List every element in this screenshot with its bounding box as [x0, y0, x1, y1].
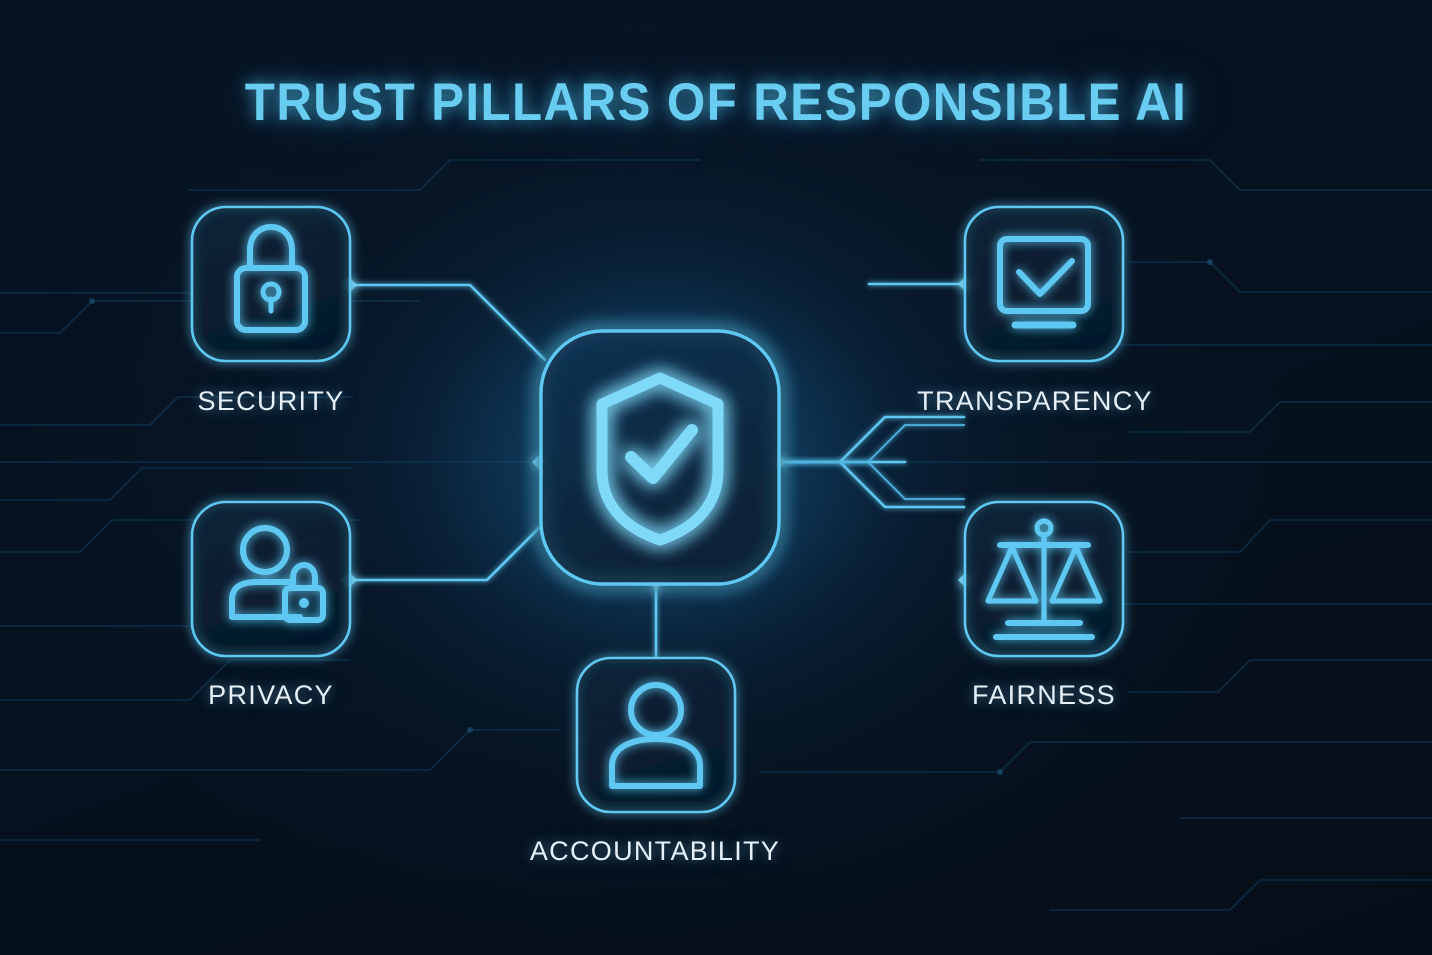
center-node-shield[interactable] [541, 331, 779, 584]
pillar-node-accountability[interactable] [577, 658, 735, 812]
pillar-label-accountability: ACCOUNTABILITY [505, 836, 805, 867]
trust-pillars-diagram [0, 0, 1432, 955]
infographic-canvas: TRUST PILLARS OF RESPONSIBLE AI SECURITY… [0, 0, 1432, 955]
pillar-label-privacy: PRIVACY [192, 680, 350, 711]
transparency-node-box[interactable] [965, 207, 1123, 361]
pillar-label-transparency: TRANSPARENCY [885, 386, 1185, 417]
pillar-node-fairness[interactable] [965, 502, 1123, 656]
center-node-box[interactable] [541, 331, 779, 584]
pillar-node-privacy[interactable] [192, 502, 350, 656]
pillar-node-transparency[interactable] [965, 207, 1123, 361]
pillar-node-security[interactable] [192, 207, 350, 361]
pillar-label-fairness: FAIRNESS [965, 680, 1123, 711]
pillar-label-security: SECURITY [192, 386, 350, 417]
